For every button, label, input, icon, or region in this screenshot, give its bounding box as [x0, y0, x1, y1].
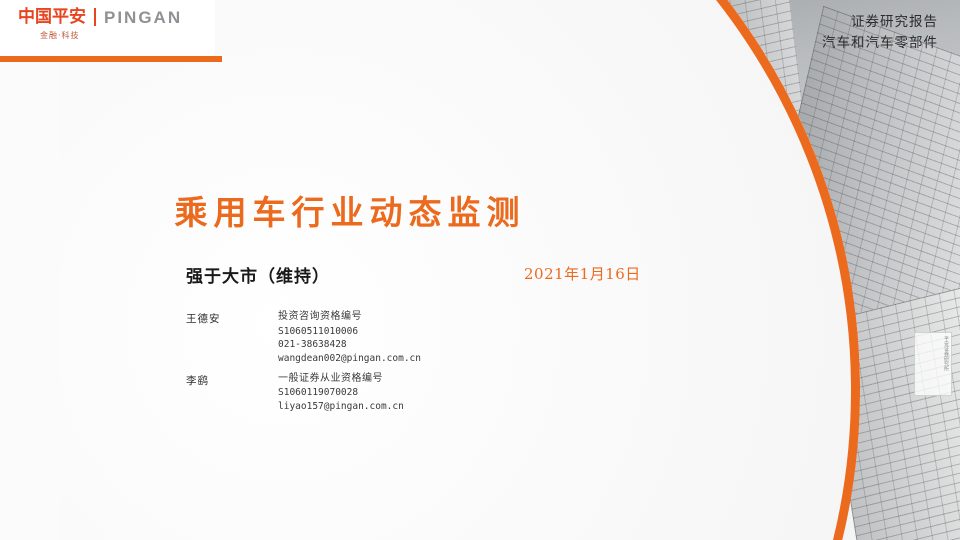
analyst-details: 投资咨询资格编号 S1060511010006 021-38638428 wan…	[278, 310, 421, 366]
pingan-logo: 中国平安 PINGAN 金融·科技	[18, 8, 198, 41]
analyst-name: 李鹞	[186, 372, 278, 414]
watermark-plate: 平安证券研究所	[914, 332, 952, 396]
analyst-email[interactable]: wangdean002@pingan.com.cn	[278, 352, 421, 366]
research-report-label: 证券研究报告	[822, 12, 938, 33]
analyst-row: 李鹞 一般证券从业资格编号 S1060119070028 liyao157@pi…	[186, 372, 616, 414]
left-white-margin	[0, 0, 60, 540]
industry-label: 汽车和汽车零部件	[822, 33, 938, 54]
analyst-list: 王德安 投资咨询资格编号 S1060511010006 021-38638428…	[186, 310, 616, 420]
analyst-qualification-label: 投资咨询资格编号	[278, 310, 421, 325]
analyst-email[interactable]: liyao157@pingan.com.cn	[278, 400, 404, 414]
rating-badge: 强于大市（维持）	[186, 262, 330, 287]
report-cover-slide: 中国平安 PINGAN 金融·科技 证券研究报告 汽车和汽车零部件 乘用车行业动…	[0, 0, 960, 540]
logo-row: 中国平安 PINGAN	[18, 8, 198, 26]
report-header-labels: 证券研究报告 汽车和汽车零部件	[822, 12, 938, 54]
logo-chinese-text: 中国平安	[18, 9, 86, 26]
logo-english-text: PINGAN	[104, 9, 182, 26]
report-date: 2021年1月16日	[524, 263, 641, 284]
white-content-field	[0, 0, 860, 540]
page-title: 乘用车行业动态监测	[0, 186, 700, 234]
orange-top-rule	[0, 56, 222, 62]
analyst-details: 一般证券从业资格编号 S1060119070028 liyao157@pinga…	[278, 372, 404, 414]
analyst-row: 王德安 投资咨询资格编号 S1060511010006 021-38638428…	[186, 310, 616, 366]
analyst-license-number: S1060119070028	[278, 386, 404, 400]
analyst-qualification-label: 一般证券从业资格编号	[278, 372, 404, 387]
analyst-license-number: S1060511010006	[278, 325, 421, 339]
logo-divider	[94, 8, 96, 26]
analyst-phone: 021-38638428	[278, 338, 421, 352]
analyst-name: 王德安	[186, 310, 278, 366]
logo-tagline: 金融·科技	[40, 30, 198, 41]
